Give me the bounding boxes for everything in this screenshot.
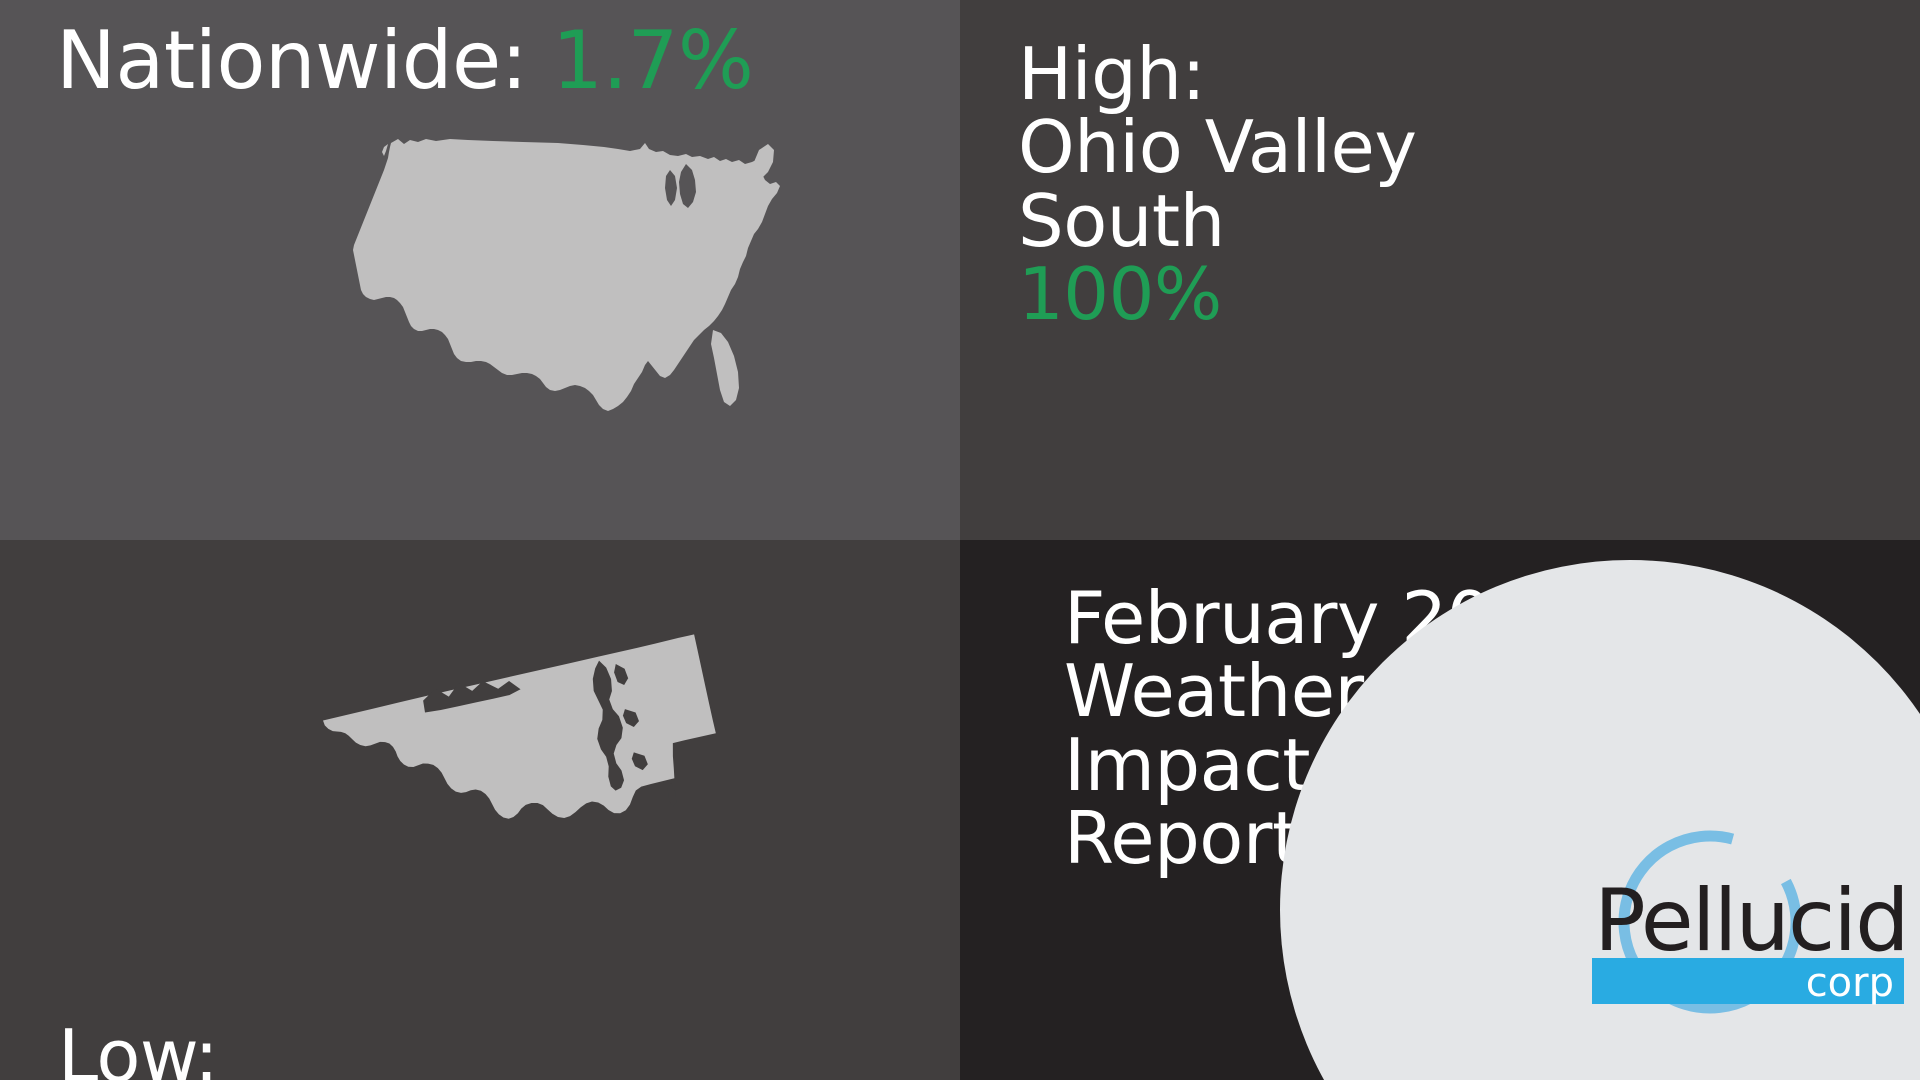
logo-brand-text: Pellucid: [1594, 871, 1908, 971]
panel-nationwide: Nationwide: 1.7%: [0, 0, 960, 540]
united-states-map-icon: [318, 130, 788, 430]
weather-impact-report-card: Nationwide: 1.7% High: Ohio Valley South…: [0, 0, 1920, 1080]
high-headline: High: Ohio Valley South 100%: [1018, 38, 1416, 332]
nationwide-label: Nationwide:: [56, 14, 552, 107]
high-value: 100%: [1018, 252, 1222, 336]
logo-suffix-text: corp: [1806, 960, 1894, 1006]
low-headline: Low: Northern VA/MD -100%: [58, 1020, 374, 1080]
pellucid-corp-logo: Pellucid corp: [1582, 810, 1920, 1040]
nationwide-value: 1.7%: [552, 14, 753, 107]
maryland-map-icon: [310, 590, 780, 880]
high-label: High: Ohio Valley South: [1018, 32, 1416, 263]
nationwide-headline: Nationwide: 1.7%: [56, 20, 753, 102]
panel-low: Low: Northern VA/MD -100%: [0, 540, 960, 1080]
panel-high: High: Ohio Valley South 100%: [960, 0, 1920, 540]
low-label: Low: Northern VA/MD: [58, 1014, 374, 1080]
